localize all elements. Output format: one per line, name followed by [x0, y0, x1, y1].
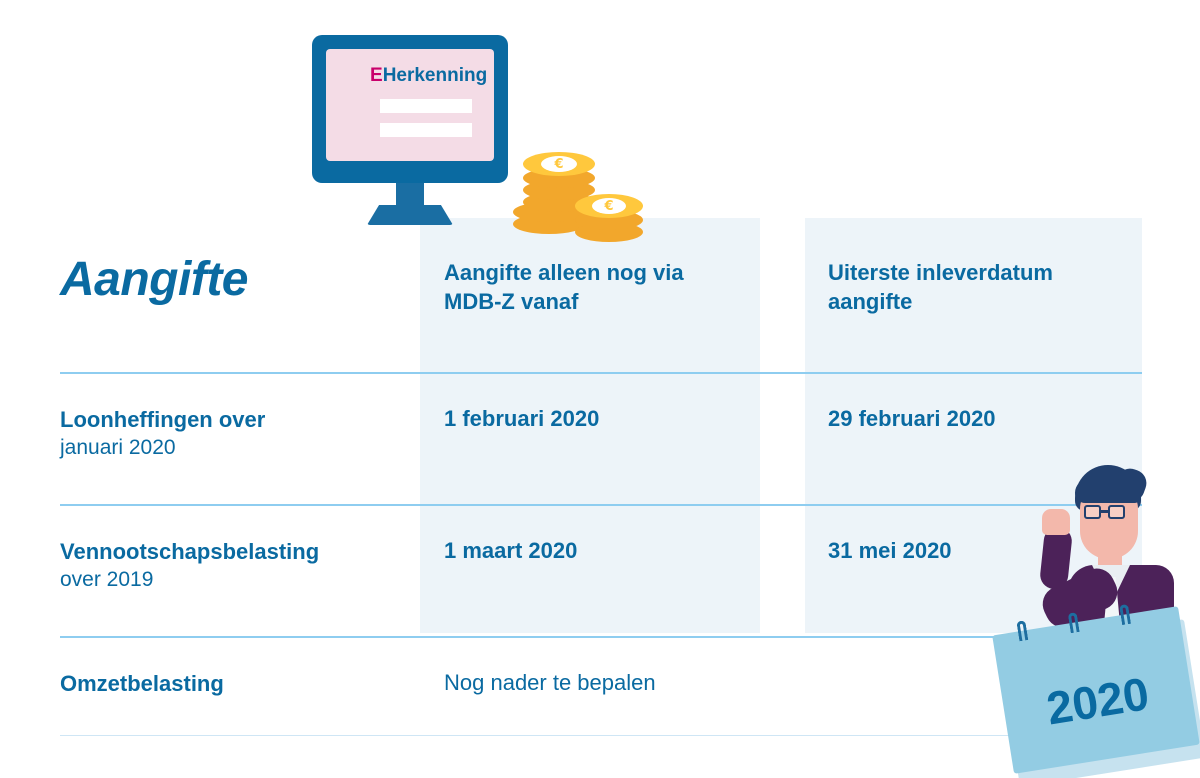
- glasses-left-lens: [1084, 505, 1101, 519]
- euro-symbol-short: €: [592, 198, 626, 214]
- table-row-label-omzetbelasting: Omzetbelasting: [60, 669, 410, 698]
- row-label-main: Loonheffingen over: [60, 405, 410, 434]
- person-fist: [1042, 509, 1070, 535]
- cell-vennootschapsbelasting-via: 1 maart 2020: [444, 538, 577, 564]
- cell-vennootschapsbelasting-deadline: 31 mei 2020: [828, 538, 952, 564]
- column-header-deadline: Uiterste inleverdatum aangifte: [828, 258, 1128, 317]
- row-divider-1: [60, 504, 1142, 506]
- monitor-frame: EHerkenning: [312, 35, 508, 183]
- person-with-calendar-illustration: 2020: [1020, 465, 1200, 778]
- login-field-password: [380, 123, 472, 137]
- cell-omzetbelasting-via: Nog nader te bepalen: [444, 670, 656, 696]
- cell-loonheffingen-via: 1 februari 2020: [444, 406, 599, 432]
- monitor-illustration: EHerkenning: [312, 35, 508, 225]
- row-divider-top: [60, 372, 1142, 374]
- eherkenning-logo-prefix: E: [370, 65, 383, 86]
- column-header-via: Aangifte alleen nog via MDB-Z vanaf: [444, 258, 744, 317]
- person-fringe: [1075, 479, 1141, 503]
- eherkenning-logo: EHerkenning: [370, 65, 487, 87]
- row-divider-bottom: [60, 735, 1142, 736]
- row-divider-2: [60, 636, 1142, 638]
- monitor-base: [367, 205, 453, 225]
- row-label-sub: over 2019: [60, 566, 410, 594]
- row-label-main: Omzetbelasting: [60, 669, 410, 698]
- login-field-username: [380, 99, 472, 113]
- euro-symbol-tall: €: [541, 156, 577, 172]
- page-title: Aangifte: [60, 252, 248, 307]
- coin-stacks-illustration: € €: [505, 140, 650, 240]
- glasses-right-lens: [1108, 505, 1125, 519]
- calendar-year-label: 2020: [1001, 659, 1195, 742]
- table-row-label-loonheffingen: Loonheffingen over januari 2020: [60, 405, 410, 462]
- eherkenning-logo-rest: Herkenning: [383, 65, 488, 86]
- infographic-canvas: EHerkenning € € Aangifte Aangifte alleen…: [0, 0, 1200, 778]
- glasses-bridge: [1101, 510, 1108, 513]
- monitor-screen: EHerkenning: [326, 49, 494, 161]
- row-label-sub: januari 2020: [60, 434, 410, 462]
- row-label-main: Vennootschapsbelasting: [60, 537, 410, 566]
- table-row-label-vennootschapsbelasting: Vennootschapsbelasting over 2019: [60, 537, 410, 594]
- calendar-ring-1: [1016, 620, 1028, 641]
- calendar: 2020: [992, 606, 1200, 774]
- cell-loonheffingen-deadline: 29 februari 2020: [828, 406, 996, 432]
